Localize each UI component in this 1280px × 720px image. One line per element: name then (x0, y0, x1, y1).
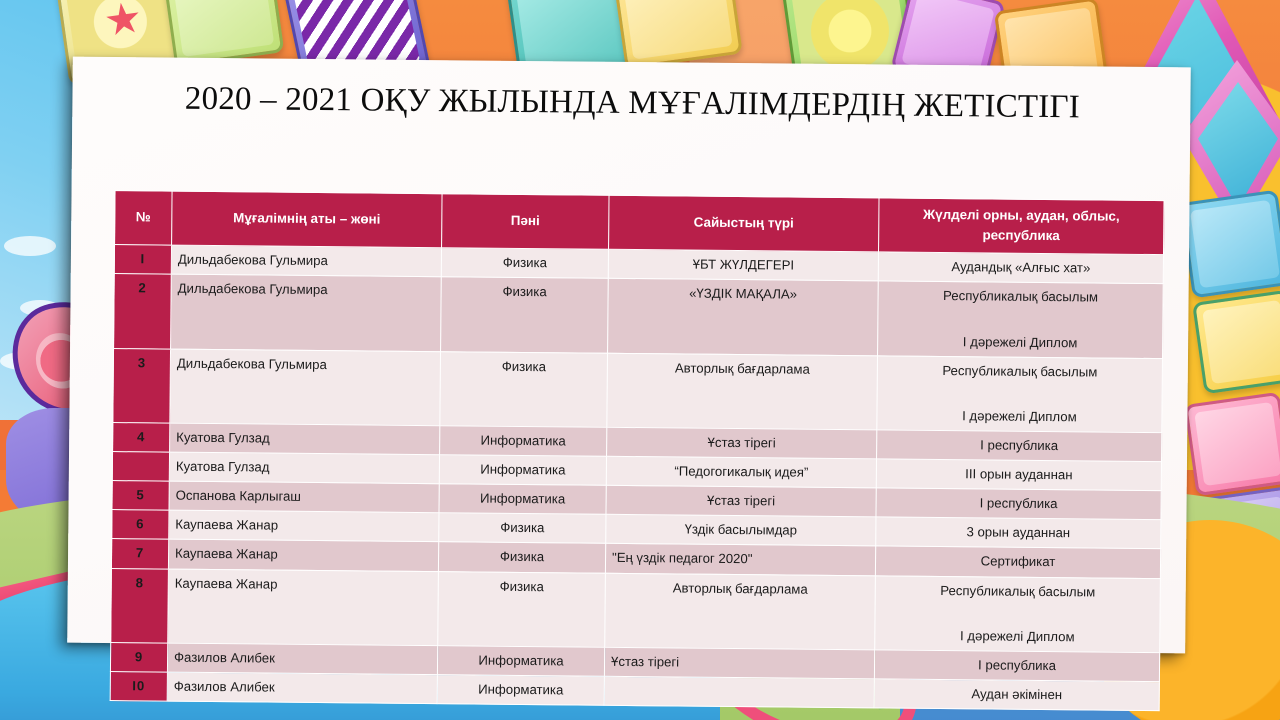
row-number-cell: 8 (111, 568, 169, 643)
column-header-competition: Сайыстың түрі (609, 195, 880, 252)
competition-cell: Ұстаз тірегі (606, 485, 876, 517)
table-body: IДильдабекова ГульмираФизикаҰБТ ЖҮЛДЕГЕР… (110, 245, 1163, 711)
prize-cell: Аудандық «Алғыс хат» (878, 252, 1163, 284)
competition-cell: “Педогогикалық идея” (606, 456, 876, 488)
teacher-name-cell: Каупаева Жанар (168, 569, 439, 646)
subject-cell: Физика (440, 351, 608, 427)
competition-cell: Үздік басылымдар (606, 515, 876, 547)
row-number-cell: 2 (114, 274, 172, 349)
table-row: 8Каупаева ЖанарФизикаАвторлық бағдарлама… (111, 568, 1161, 652)
prize-cell: 3 орын ауданнан (876, 517, 1161, 549)
teacher-name-cell: Дильдабекова Гульмира (171, 245, 441, 277)
subject-cell: Информатика (439, 484, 606, 515)
column-header-subject: Пәні (442, 194, 610, 250)
row-number-cell: I0 (110, 672, 167, 702)
competition-cell: "Ең үздік педагог 2020" (605, 544, 875, 576)
toy-block-icon (1184, 392, 1280, 496)
teacher-name-cell: Куатова Гулзад (170, 423, 440, 455)
prize-cell: І республика (876, 488, 1161, 520)
prize-cell: І республика (877, 430, 1162, 462)
prize-cell: Республикалық басылымІ дәрежелі Диплом (877, 356, 1163, 433)
competition-cell: Ұстаз тірегі (607, 427, 877, 459)
row-number-cell: I (114, 245, 171, 275)
prize-cell: Республикалық басылымІ дәрежелі Диплом (878, 281, 1164, 358)
row-number-cell: 7 (111, 539, 168, 569)
competition-cell: ҰБТ ЖҮЛДЕГЕРІ (608, 250, 878, 282)
table-row: 2Дильдабекова ГульмираФизика«ҮЗДІК МАҚАЛ… (114, 274, 1164, 358)
column-header-number: № (115, 191, 173, 246)
teacher-name-cell: Куатова Гулзад (169, 452, 439, 484)
subject-cell: Физика (438, 571, 606, 647)
prize-cell-line2: І дәрежелі Диплом (884, 331, 1156, 353)
subject-cell: Информатика (439, 455, 606, 486)
column-header-prize: Жүлделі орны, аудан, облыс, республика (878, 198, 1164, 255)
table-header: № Мұғалімнің аты – жөні Пәні Сайыстың тү… (115, 191, 1164, 255)
table-header-row: № Мұғалімнің аты – жөні Пәні Сайыстың тү… (115, 191, 1164, 255)
subject-cell: Физика (438, 542, 605, 573)
competition-cell: Авторлық бағдарлама (607, 353, 878, 430)
prize-cell: ІІІ орын ауданнан (876, 459, 1161, 491)
teacher-achievements-table: № Мұғалімнің аты – жөні Пәні Сайыстың тү… (110, 190, 1165, 711)
column-header-teacher-name: Мұғалімнің аты – жөні (172, 191, 443, 248)
prize-cell: І республика (874, 650, 1159, 682)
table-row: 3Дильдабекова ГульмираФизикаАвторлық бағ… (113, 348, 1163, 432)
row-number-cell: 6 (112, 510, 169, 540)
prize-cell-line2: І дәрежелі Диплом (883, 405, 1155, 427)
slide-panel: 2020 – 2021 ОҚУ ЖЫЛЫНДА МҰҒАЛІМДЕРДІҢ ЖЕ… (67, 57, 1191, 654)
teacher-name-cell: Фазилов Алибек (167, 672, 437, 704)
row-number-cell (112, 452, 169, 482)
subject-cell: Информатика (437, 646, 604, 677)
column-header-prize-line1: Жүлделі орны, аудан, облыс, (923, 207, 1120, 224)
competition-cell: Ұстаз тірегі (604, 647, 874, 679)
toy-block-icon (1192, 290, 1280, 394)
cloud-icon (4, 236, 56, 256)
prize-cell-line2: І дәрежелі Диплом (881, 625, 1153, 647)
prize-cell: Аудан әкімінен (874, 679, 1159, 711)
slide-canvas: 2020 – 2021 ОҚУ ЖЫЛЫНДА МҰҒАЛІМДЕРДІҢ ЖЕ… (0, 0, 1280, 720)
prize-cell: Сертификат (875, 546, 1160, 578)
teacher-name-cell: Оспанова Карлыгаш (169, 481, 439, 513)
competition-cell: Авторлық бағдарлама (605, 573, 876, 650)
teacher-name-cell: Каупаева Жанар (168, 540, 438, 572)
row-number-cell: 3 (113, 348, 171, 423)
row-number-cell: 4 (113, 422, 170, 452)
toy-block-icon (1180, 190, 1280, 299)
subject-cell: Физика (439, 513, 606, 544)
column-header-prize-line2: республика (982, 227, 1059, 243)
teacher-name-cell: Дильдабекова Гульмира (171, 274, 442, 351)
row-number-cell: 9 (110, 642, 167, 672)
teacher-name-cell: Каупаева Жанар (169, 510, 439, 542)
page-title: 2020 – 2021 ОҚУ ЖЫЛЫНДА МҰҒАЛІМДЕРДІҢ ЖЕ… (162, 78, 1102, 130)
prize-cell: Республикалық басылымІ дәрежелі Диплом (875, 576, 1161, 653)
subject-cell: Информатика (440, 426, 607, 457)
subject-cell: Информатика (437, 675, 604, 706)
teacher-name-cell: Фазилов Алибек (167, 643, 437, 675)
teacher-name-cell: Дильдабекова Гульмира (170, 349, 441, 426)
row-number-cell: 5 (112, 481, 169, 511)
competition-cell: «ҮЗДІК МАҚАЛА» (608, 279, 879, 356)
subject-cell: Физика (441, 277, 609, 353)
subject-cell: Физика (441, 248, 608, 279)
competition-cell (604, 676, 874, 708)
